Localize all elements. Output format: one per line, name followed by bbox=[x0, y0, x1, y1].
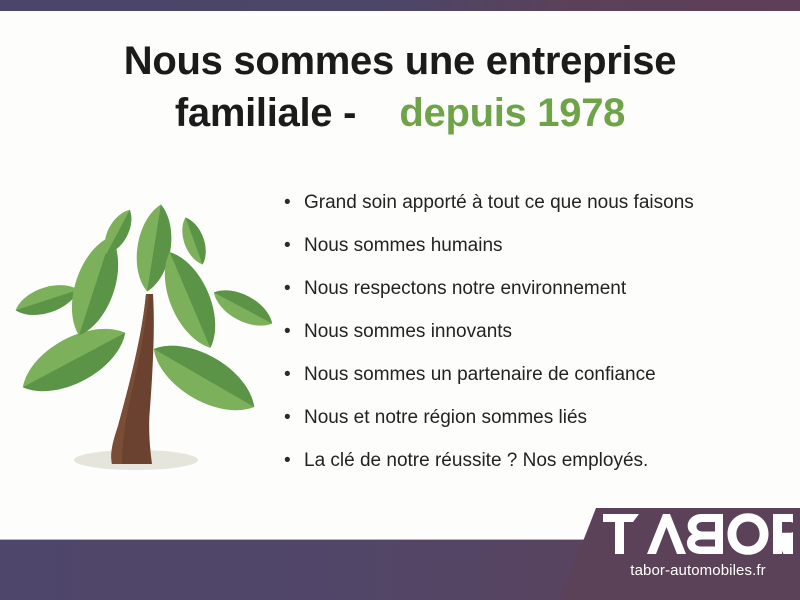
list-item-label: Nous respectons notre environnement bbox=[304, 276, 626, 302]
list-item-label: Nous sommes innovants bbox=[304, 319, 512, 345]
bullet-marker-icon: • bbox=[284, 362, 304, 388]
list-item-label: Nous et notre région sommes liés bbox=[304, 405, 587, 431]
leaf-lower-left bbox=[12, 313, 136, 407]
list-item-label: Nous sommes humains bbox=[304, 233, 503, 259]
bullet-marker-icon: • bbox=[284, 276, 304, 302]
list-item-label: La clé de notre réussite ? Nos employés. bbox=[304, 448, 648, 474]
list-item: • Nous sommes humains bbox=[284, 233, 784, 276]
list-item: • Nous sommes un partenaire de confiance bbox=[284, 362, 784, 405]
headline-line-1: Nous sommes une entreprise bbox=[40, 36, 760, 88]
list-item-label: Grand soin apporté à tout ce que nous fa… bbox=[304, 190, 694, 216]
list-item: • Nous sommes innovants bbox=[284, 319, 784, 362]
tree-illustration bbox=[12, 186, 280, 492]
brand-logo-inner: tabor-automobiles.fr bbox=[600, 512, 796, 579]
leaf-mid-left bbox=[12, 278, 82, 323]
tabor-wordmark-icon bbox=[603, 512, 793, 556]
bullet-marker-icon: • bbox=[284, 405, 304, 431]
bullet-marker-icon: • bbox=[284, 448, 304, 474]
top-accent-bar bbox=[0, 0, 800, 11]
brand-tagline: tabor-automobiles.fr bbox=[600, 562, 796, 579]
list-item: • Nous respectons notre environnement bbox=[284, 276, 784, 319]
list-item: • Nous et notre région sommes liés bbox=[284, 405, 784, 448]
headline-accent-since-1978: depuis 1978 bbox=[399, 91, 625, 135]
slide-canvas: Nous sommes une entreprise familiale - d… bbox=[0, 0, 800, 600]
list-item-label: Nous sommes un partenaire de confiance bbox=[304, 362, 656, 388]
leaf-upper-left bbox=[60, 231, 129, 342]
bullet-marker-icon: • bbox=[284, 233, 304, 259]
tree-trunk bbox=[111, 294, 154, 464]
headline-line-2-plain: familiale - bbox=[175, 91, 356, 135]
value-proposition-list: • Grand soin apporté à tout ce que nous … bbox=[284, 190, 784, 491]
page-title: Nous sommes une entreprise familiale - d… bbox=[40, 36, 760, 139]
bullet-marker-icon: • bbox=[284, 190, 304, 216]
leaf-mid-right bbox=[208, 281, 278, 335]
headline-line-2: familiale - depuis 1978 bbox=[40, 88, 760, 140]
brand-logo-panel: tabor-automobiles.fr bbox=[552, 506, 800, 600]
list-item: • La clé de notre réussite ? Nos employé… bbox=[284, 448, 784, 491]
bullet-marker-icon: • bbox=[284, 319, 304, 345]
list-item: • Grand soin apporté à tout ce que nous … bbox=[284, 190, 784, 233]
